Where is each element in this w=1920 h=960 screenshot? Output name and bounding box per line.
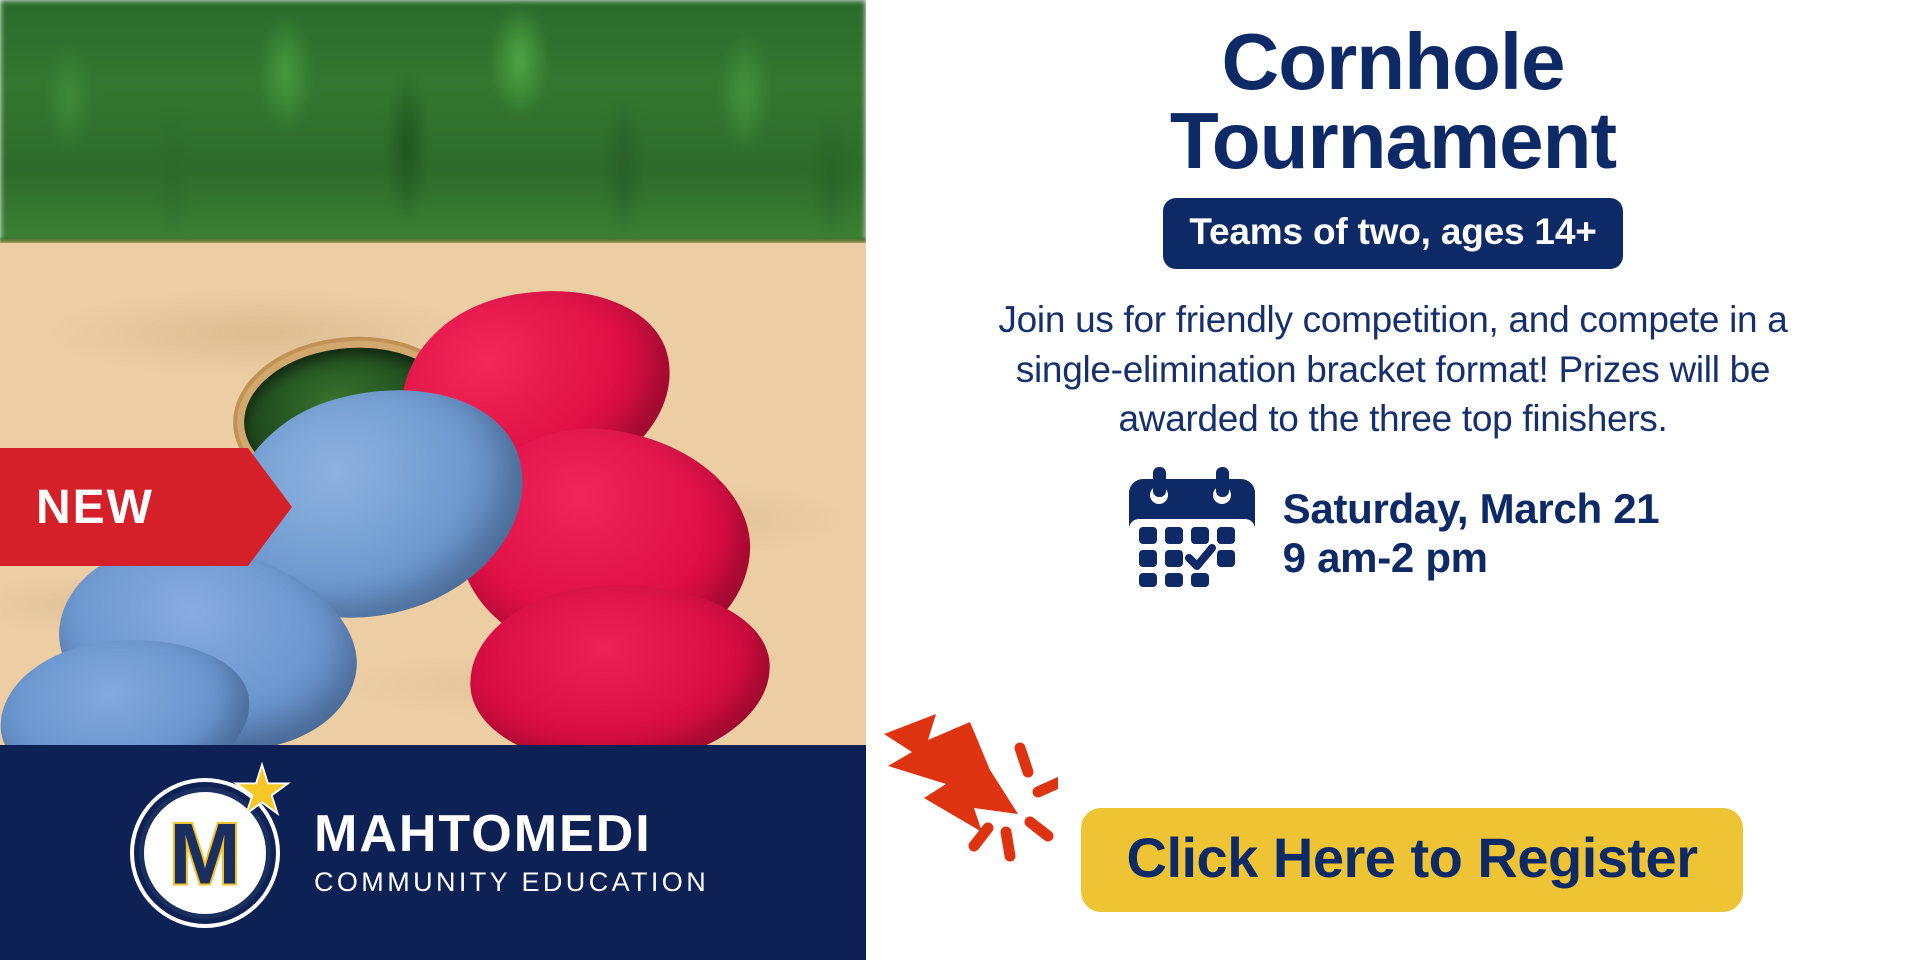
promo-banner: NEW M MAHTOMEDI COMMUNITY EDUCATION Corn…: [0, 0, 1920, 960]
click-cursor-icon: [878, 696, 1058, 876]
event-date-text: Saturday, March 21 9 am-2 pm: [1283, 484, 1660, 583]
cta-row: Click Here to Register: [866, 808, 1920, 912]
logo-bar: M MAHTOMEDI COMMUNITY EDUCATION: [0, 745, 866, 960]
photo-panel: NEW M MAHTOMEDI COMMUNITY EDUCATION: [0, 0, 866, 960]
calendar-icon: [1127, 467, 1257, 600]
eligibility-badge: Teams of two, ages 14+: [1163, 198, 1622, 269]
grass-background: [0, 0, 866, 244]
register-button[interactable]: Click Here to Register: [1081, 808, 1744, 912]
event-date-row: Saturday, March 21 9 am-2 pm: [1127, 467, 1660, 600]
mahtomedi-logo-mark: M: [130, 778, 280, 928]
page-title: Cornhole Tournament: [1170, 22, 1616, 180]
new-ribbon-badge: NEW: [0, 448, 292, 566]
logo-monogram: M: [130, 811, 280, 897]
logo-wordmark: MAHTOMEDI COMMUNITY EDUCATION: [314, 807, 709, 899]
event-date-line-2: 9 am-2 pm: [1283, 533, 1660, 583]
headline-line-1: Cornhole: [1170, 22, 1616, 101]
content-panel: Cornhole Tournament Teams of two, ages 1…: [866, 0, 1920, 960]
description-text: Join us for friendly competition, and co…: [988, 295, 1798, 443]
new-ribbon-label: NEW: [0, 480, 154, 535]
event-date-line-1: Saturday, March 21: [1283, 484, 1660, 534]
logo-title: MAHTOMEDI: [314, 807, 709, 862]
logo-subtitle: COMMUNITY EDUCATION: [314, 867, 709, 898]
headline-line-2: Tournament: [1170, 101, 1616, 180]
